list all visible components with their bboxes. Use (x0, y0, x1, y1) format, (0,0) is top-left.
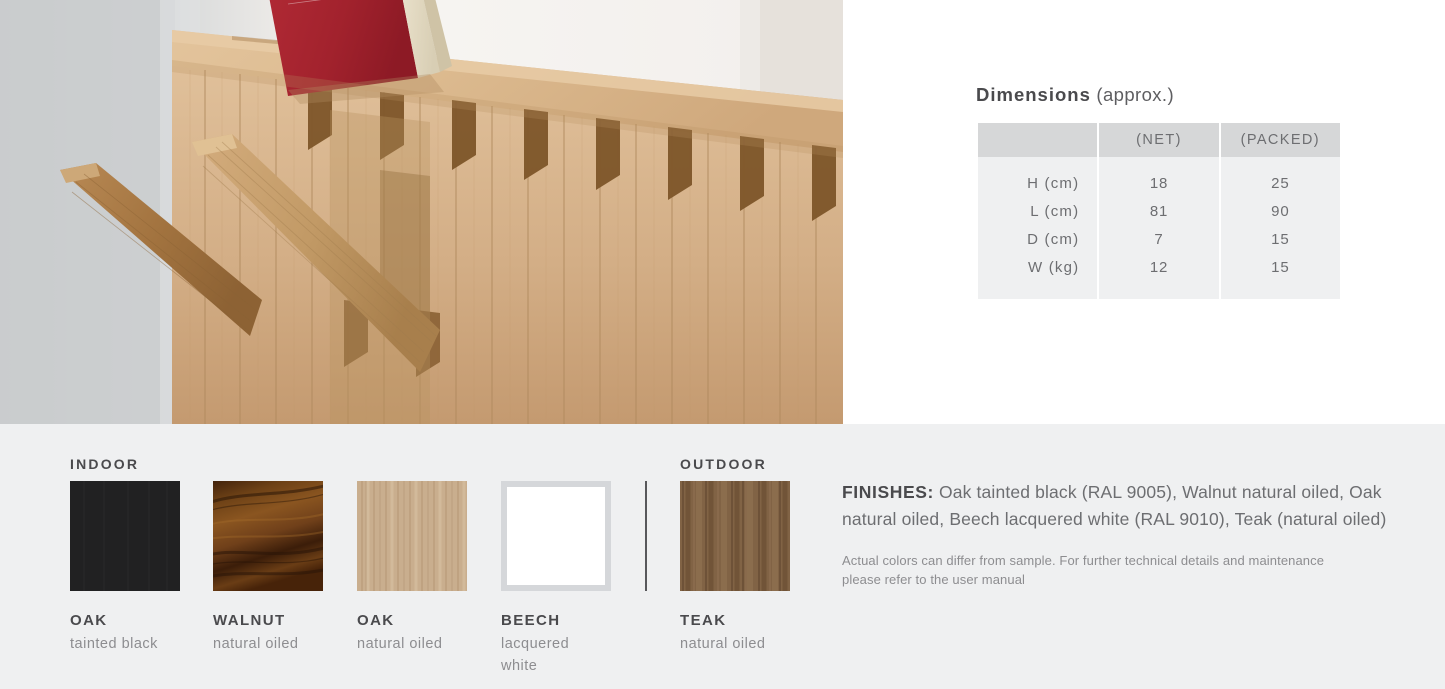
column-header-blank (978, 123, 1097, 157)
row-l-net: 81 (1099, 197, 1218, 225)
row-l-packed: 90 (1221, 197, 1340, 225)
finishes-text-block: FINISHES: Oak tainted black (RAL 9005), … (842, 479, 1412, 589)
dimensions-title-approx: (approx.) (1096, 84, 1174, 105)
row-label-l: L (cm) (978, 197, 1097, 225)
swatch-oak-natural[interactable] (357, 481, 467, 591)
swatch-walnut-natural[interactable] (213, 481, 323, 591)
row-d-net: 7 (1099, 225, 1218, 253)
teak-natural-texture (680, 481, 790, 591)
table-row: W (kg) 12 15 (978, 253, 1340, 281)
swatch-cell-oak-natural[interactable]: OAK natural oiled (357, 481, 487, 655)
table-row: L (cm) 81 90 (978, 197, 1340, 225)
dimensions-table-body: H (cm) 18 25 L (cm) 81 90 D (cm) 7 15 W … (978, 157, 1340, 299)
swatch-sub-oak-natural: natural oiled (357, 633, 473, 655)
dimensions-title-strong: Dimensions (976, 84, 1091, 105)
indoor-outdoor-divider (645, 481, 647, 591)
swatch-cell-teak-natural[interactable]: TEAK natural oiled (680, 481, 810, 655)
table-row: H (cm) 18 25 (978, 169, 1340, 197)
indoor-group-heading: INDOOR (70, 456, 139, 472)
walnut-natural-texture (213, 481, 323, 591)
product-spec-sheet: Dimensions (approx.) (NET) (PACKED) H (c… (0, 0, 1445, 689)
column-header-packed: (PACKED) (1221, 123, 1340, 157)
row-label-h: H (cm) (978, 169, 1097, 197)
swatch-name-teak: TEAK (680, 612, 810, 630)
dimensions-table: (NET) (PACKED) H (cm) 18 25 L (cm) 81 (976, 123, 1342, 299)
dimensions-table-head: (NET) (PACKED) (978, 123, 1340, 157)
finishes-label: FINISHES: (842, 482, 934, 502)
table-row: D (cm) 7 15 (978, 225, 1340, 253)
outdoor-group-heading: OUTDOOR (680, 456, 767, 472)
row-w-net: 12 (1099, 253, 1218, 281)
table-spacer-row-bottom (978, 281, 1340, 299)
oak-tainted-black-texture (70, 481, 180, 591)
spacer-cell (1221, 157, 1340, 169)
swatch-name-walnut: WALNUT (213, 612, 343, 630)
finishes-disclaimer: Actual colors can differ from sample. Fo… (842, 552, 1342, 589)
swatch-sub-beech: lacqueredwhite (501, 633, 617, 678)
product-photo-illustration (0, 0, 843, 424)
spacer-cell (1221, 281, 1340, 299)
swatch-cell-oak-tainted-black[interactable]: OAK tainted black (70, 481, 200, 655)
row-label-d: D (cm) (978, 225, 1097, 253)
swatch-teak-natural[interactable] (680, 481, 790, 591)
swatch-beech-lacquered-white[interactable] (501, 481, 611, 591)
swatch-name-beech: BEECH (501, 612, 631, 630)
row-d-packed: 15 (1221, 225, 1340, 253)
swatch-sub-walnut: natural oiled (213, 633, 329, 655)
column-header-net: (NET) (1099, 123, 1218, 157)
product-photo (0, 0, 843, 424)
swatch-sub-teak: natural oiled (680, 633, 796, 655)
swatch-cell-beech-white[interactable]: BEECH lacqueredwhite (501, 481, 631, 678)
swatch-name-oak-tainted-black: OAK (70, 612, 200, 630)
table-header-row: (NET) (PACKED) (978, 123, 1340, 157)
swatch-oak-tainted-black[interactable] (70, 481, 180, 591)
table-spacer-row-top (978, 157, 1340, 169)
swatch-cell-walnut-natural[interactable]: WALNUT natural oiled (213, 481, 343, 655)
spacer-cell (978, 281, 1097, 299)
spacer-cell (1099, 281, 1218, 299)
swatch-sub-oak-tainted-black: tainted black (70, 633, 186, 655)
finishes-section: INDOOR OUTDOOR OAK tainted black (0, 424, 1445, 689)
dimensions-panel: Dimensions (approx.) (NET) (PACKED) H (c… (976, 84, 1356, 299)
row-label-w: W (kg) (978, 253, 1097, 281)
finishes-description: FINISHES: Oak tainted black (RAL 9005), … (842, 479, 1412, 532)
swatch-name-oak-natural: OAK (357, 612, 487, 630)
row-w-packed: 15 (1221, 253, 1340, 281)
row-h-net: 18 (1099, 169, 1218, 197)
row-h-packed: 25 (1221, 169, 1340, 197)
spacer-cell (1099, 157, 1218, 169)
spacer-cell (978, 157, 1097, 169)
oak-natural-texture (357, 481, 467, 591)
dimensions-title: Dimensions (approx.) (976, 84, 1356, 106)
